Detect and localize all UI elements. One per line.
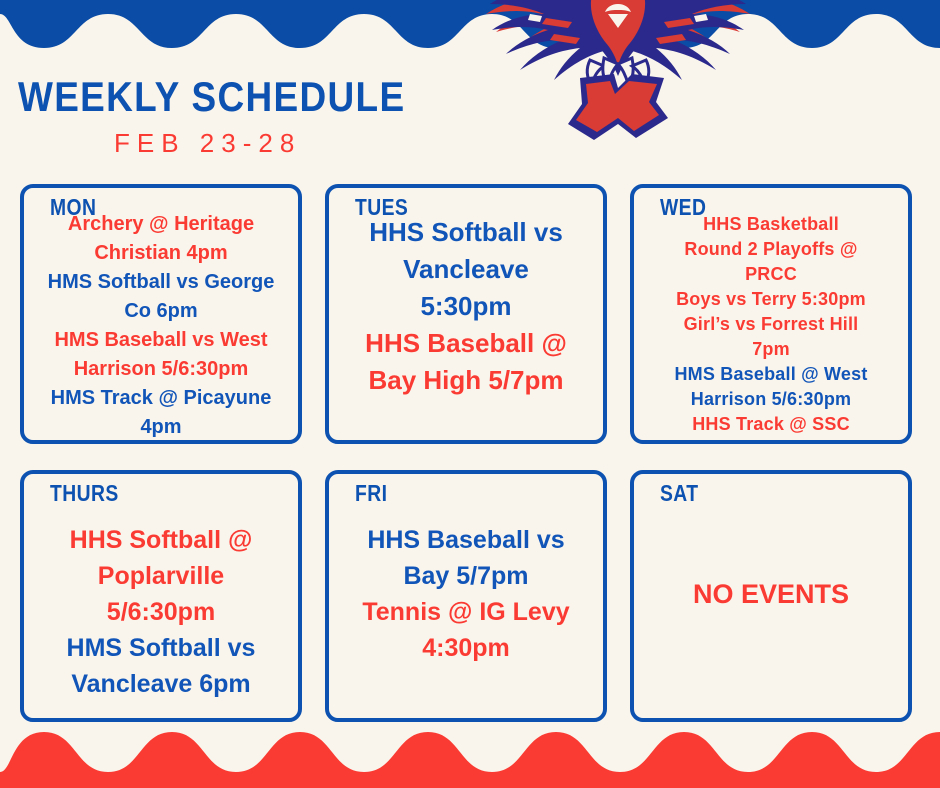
event-list-sat: NO EVENTS: [640, 576, 902, 612]
event-item: Girl’s vs Forrest Hill: [640, 312, 902, 337]
event-item: Archery @ Heritage: [30, 210, 292, 239]
event-item: HMS Track @ Picayune: [30, 384, 292, 413]
event-list-fri: HHS Baseball vs Bay 5/7pm Tennis @ IG Le…: [335, 522, 597, 666]
day-card-tues: TUES HHS Softball vs Vancleave 5:30pm HH…: [325, 184, 607, 444]
event-item: Tennis @ IG Levy: [335, 594, 597, 630]
event-item: Vancleave 6pm: [30, 666, 292, 702]
event-item: Co 6pm: [30, 297, 292, 326]
title-block: WEEKLY SCHEDULE FEB 23-28: [18, 74, 458, 158]
event-item: 4:30pm: [335, 630, 597, 666]
hawk-mascot-logo: [468, 0, 768, 162]
event-item: HMS Baseball vs West: [30, 326, 292, 355]
event-item: HMS Baseball @ West: [640, 362, 902, 387]
event-item: HHS Baseball @: [335, 325, 597, 362]
event-item: Vancleave: [335, 251, 597, 288]
event-item: Boys vs Terry 5:30pm: [640, 287, 902, 312]
event-item: Harrison 5/6:30pm: [640, 387, 902, 412]
red-wave-band: [0, 722, 940, 788]
day-card-wed: WED HHS Basketball Round 2 Playoffs @ PR…: [630, 184, 912, 444]
day-card-sat: SAT NO EVENTS: [630, 470, 912, 722]
event-item: HMS Softball vs George: [30, 268, 292, 297]
event-item: Bay 5/7pm: [335, 558, 597, 594]
event-item: HHS Softball @: [30, 522, 292, 558]
hawk-letter-h: [568, 74, 668, 140]
page-title: WEEKLY SCHEDULE: [18, 74, 405, 120]
event-item: Poplarville: [30, 558, 292, 594]
event-item: Bay High 5/7pm: [335, 362, 597, 399]
event-item: 4pm: [30, 413, 292, 442]
event-item: 7pm: [640, 337, 902, 362]
event-item: PRCC: [640, 262, 902, 287]
day-card-thurs: THURS HHS Softball @ Poplarville 5/6:30p…: [20, 470, 302, 722]
event-list-wed: HHS Basketball Round 2 Playoffs @ PRCC B…: [640, 212, 902, 444]
weekly-schedule-poster: WEEKLY SCHEDULE FEB 23-28: [0, 0, 940, 788]
event-item: Harrison 5/6:30pm: [30, 355, 292, 384]
event-list-mon: Archery @ Heritage Christian 4pm HMS Sof…: [30, 210, 292, 442]
day-card-mon: MON Archery @ Heritage Christian 4pm HMS…: [20, 184, 302, 444]
schedule-grid: MON Archery @ Heritage Christian 4pm HMS…: [20, 184, 920, 722]
day-label-sat: SAT: [660, 480, 698, 506]
event-item: 5:30pm: [335, 288, 597, 325]
event-list-thurs: HHS Softball @ Poplarville 5/6:30pm HMS …: [30, 522, 292, 702]
event-item: Christian 4pm: [30, 239, 292, 268]
event-item: Round 2 Playoffs @: [640, 237, 902, 262]
event-item: HMS Softball vs: [30, 630, 292, 666]
event-item: 3pm: [640, 437, 902, 444]
day-label-fri: FRI: [355, 480, 387, 506]
event-list-tues: HHS Softball vs Vancleave 5:30pm HHS Bas…: [335, 214, 597, 399]
event-item: NO EVENTS: [640, 576, 902, 612]
event-item: HHS Softball vs: [335, 214, 597, 251]
date-range: FEB 23-28: [114, 128, 458, 158]
day-label-thurs: THURS: [50, 480, 119, 506]
day-card-fri: FRI HHS Baseball vs Bay 5/7pm Tennis @ I…: [325, 470, 607, 722]
event-item: 5/6:30pm: [30, 594, 292, 630]
event-item: HHS Basketball: [640, 212, 902, 237]
event-item: HHS Track @ SSC: [640, 412, 902, 437]
event-item: HHS Baseball vs: [335, 522, 597, 558]
